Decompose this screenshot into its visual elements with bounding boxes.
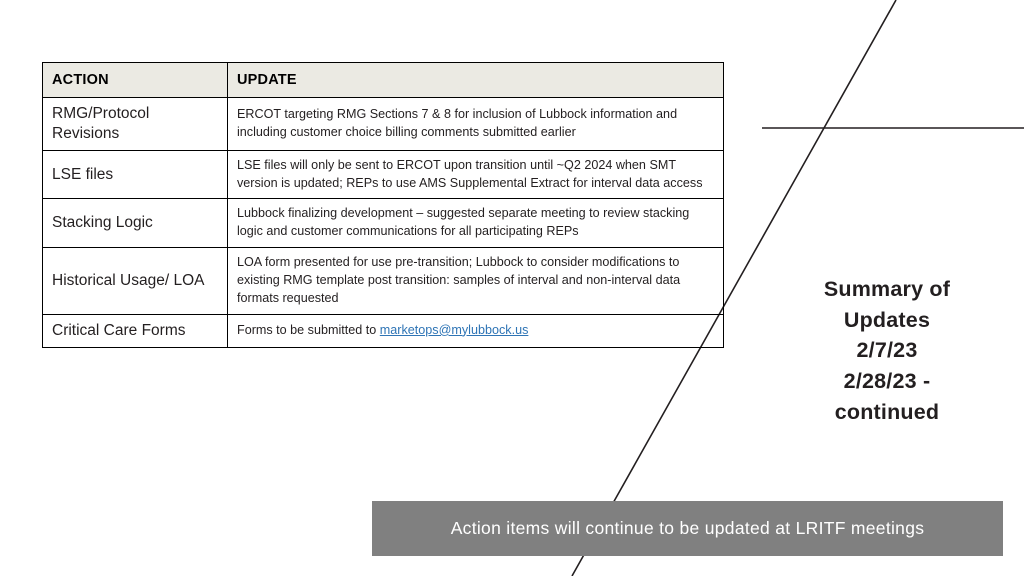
page-title-line: Updates	[780, 305, 994, 336]
row-update-text: Lubbock finalizing development – suggest…	[228, 199, 724, 248]
row-action-label: Historical Usage/ LOA	[43, 248, 228, 315]
action-update-table: ACTION UPDATE RMG/Protocol Revisions ERC…	[42, 62, 723, 348]
row-action-label: LSE files	[43, 150, 228, 199]
row-action-label: Stacking Logic	[43, 199, 228, 248]
footer-banner-text: Action items will continue to be updated…	[451, 518, 925, 539]
table-header-row: ACTION UPDATE	[43, 63, 724, 98]
footer-banner: Action items will continue to be updated…	[372, 501, 1003, 556]
page-title-line: 2/28/23 -	[780, 366, 994, 397]
row-action-label: Critical Care Forms	[43, 314, 228, 347]
row-action-label: RMG/Protocol Revisions	[43, 98, 228, 151]
page-title-line: 2/7/23	[780, 335, 994, 366]
row-update-text: ERCOT targeting RMG Sections 7 & 8 for i…	[228, 98, 724, 151]
slide: ACTION UPDATE RMG/Protocol Revisions ERC…	[0, 0, 1024, 576]
table-row: Historical Usage/ LOA LOA form presented…	[43, 248, 724, 315]
email-link[interactable]: marketops@mylubbock.us	[380, 323, 529, 337]
page-title-line: Summary of	[780, 274, 994, 305]
page-title-line: continued	[780, 397, 994, 428]
table-header-update: UPDATE	[228, 63, 724, 98]
table-row: Stacking Logic Lubbock finalizing develo…	[43, 199, 724, 248]
table-header-action: ACTION	[43, 63, 228, 98]
table-row: Critical Care Forms Forms to be submitte…	[43, 314, 724, 347]
table-row: RMG/Protocol Revisions ERCOT targeting R…	[43, 98, 724, 151]
row-update-prefix: Forms to be submitted to	[237, 323, 380, 337]
page-title: Summary of Updates 2/7/23 2/28/23 - cont…	[780, 274, 994, 428]
table-row: LSE files LSE files will only be sent to…	[43, 150, 724, 199]
row-update-text: LSE files will only be sent to ERCOT upo…	[228, 150, 724, 199]
row-update-text: Forms to be submitted to marketops@mylub…	[228, 314, 724, 347]
row-update-text: LOA form presented for use pre-transitio…	[228, 248, 724, 315]
